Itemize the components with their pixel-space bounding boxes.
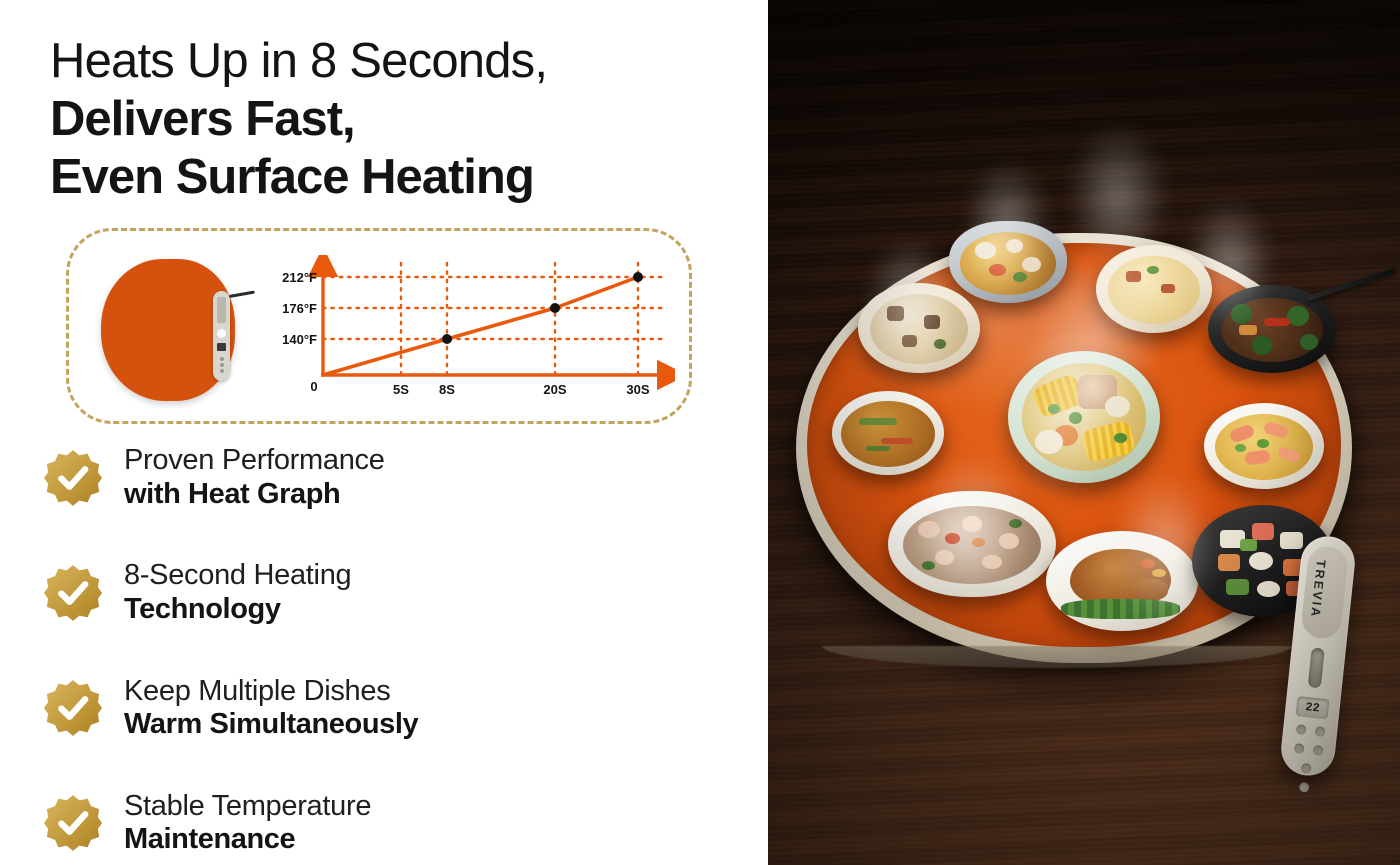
feature-text: Proven Performance with Heat Graph <box>124 444 385 511</box>
feature-line-1: 8-Second Heating <box>124 559 351 593</box>
chart-x-tick-labels: 0 5S 8S 20S 30S <box>310 379 650 397</box>
x-tick-8s: 8S <box>439 382 455 397</box>
feature-text: 8-Second Heating Technology <box>124 559 351 626</box>
warming-mat-illustration <box>101 255 251 405</box>
headline-line-2: Delivers Fast, <box>50 90 730 148</box>
y-tick-176: 176°F <box>282 301 317 316</box>
heat-graph-card: 212°F 176°F 140°F 0 5S 8S 20S 30S <box>66 228 692 424</box>
feature-line-2: Maintenance <box>124 823 371 857</box>
feature-list: Proven Performance with Heat Graph 8-Sec… <box>44 444 744 857</box>
page-title: Heats Up in 8 Seconds, Delivers Fast, Ev… <box>50 32 730 206</box>
feature-item: 8-Second Heating Technology <box>44 559 744 626</box>
heat-curve-chart: 212°F 176°F 140°F 0 5S 8S 20S 30S <box>265 255 675 403</box>
feature-item: Proven Performance with Heat Graph <box>44 444 744 511</box>
feature-line-2: with Heat Graph <box>124 478 385 512</box>
product-photo: TREVIA 22 <box>768 0 1400 865</box>
photo-vignette <box>768 0 1400 865</box>
feature-line-2: Technology <box>124 593 351 627</box>
mat-button-dots <box>218 355 225 373</box>
feature-text: Stable Temperature Maintenance <box>124 790 371 857</box>
feature-line-1: Proven Performance <box>124 444 385 478</box>
left-content-panel: Heats Up in 8 Seconds, Delivers Fast, Ev… <box>0 0 768 865</box>
check-badge-icon <box>44 449 102 507</box>
feature-line-2: Warm Simultaneously <box>124 708 418 742</box>
y-tick-140: 140°F <box>282 332 317 347</box>
x-tick-30s: 30S <box>626 382 649 397</box>
feature-item: Keep Multiple Dishes Warm Simultaneously <box>44 675 744 742</box>
y-tick-212: 212°F <box>282 270 317 285</box>
heat-curve-svg: 212°F 176°F 140°F 0 5S 8S 20S 30S <box>265 255 675 403</box>
headline-line-3: Even Surface Heating <box>50 148 730 206</box>
mat-brand-strip <box>217 297 226 323</box>
mat-power-knob <box>217 329 226 338</box>
feature-item: Stable Temperature Maintenance <box>44 790 744 857</box>
chart-heat-curve <box>323 277 638 375</box>
check-badge-icon <box>44 679 102 737</box>
check-badge-icon <box>44 564 102 622</box>
product-feature-page: Heats Up in 8 Seconds, Delivers Fast, Ev… <box>0 0 1400 865</box>
check-badge-icon <box>44 794 102 852</box>
feature-text: Keep Multiple Dishes Warm Simultaneously <box>124 675 418 742</box>
chart-y-tick-labels: 212°F 176°F 140°F <box>282 270 317 347</box>
x-tick-5s: 5S <box>393 382 409 397</box>
headline-line-1: Heats Up in 8 Seconds, <box>50 32 730 90</box>
feature-line-1: Keep Multiple Dishes <box>124 675 418 709</box>
feature-line-1: Stable Temperature <box>124 790 371 824</box>
mat-display-screen <box>217 343 226 351</box>
x-tick-20s: 20S <box>543 382 566 397</box>
x-tick-origin: 0 <box>310 379 317 394</box>
mat-power-cord <box>229 291 255 298</box>
